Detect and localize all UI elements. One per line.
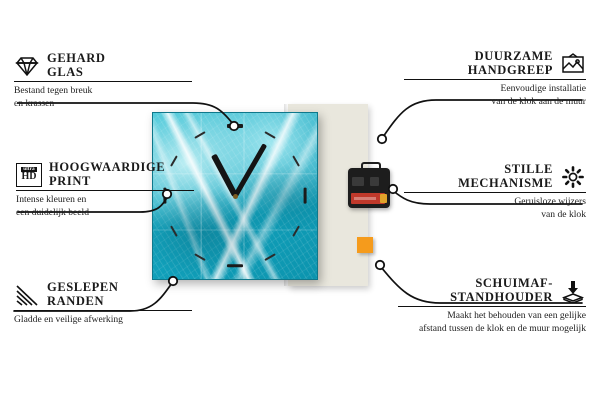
- feature-desc-line2: van de klok aan de muur: [404, 96, 586, 108]
- divider: [14, 81, 192, 82]
- divider: [14, 310, 192, 311]
- feature-desc-line2: van de klok: [404, 209, 586, 221]
- feature-title-line2: GLAS: [47, 66, 105, 80]
- divider: [398, 306, 586, 307]
- divider: [16, 190, 194, 191]
- feature-desc-line2: afstand tussen de klok en de muur mogeli…: [398, 323, 586, 335]
- feature-title-line2: MECHANISME: [458, 177, 553, 191]
- feature-desc-line2: en krassen: [14, 98, 192, 110]
- bevelled-edge-icon: [14, 283, 40, 307]
- feature-schuimaf-standhouder: SCHUIMAF- STANDHOUDER Maakt het behouden…: [398, 277, 586, 335]
- endpoint-duurzame-handgreep: [378, 135, 386, 143]
- endpoint-stille-mechanisme: [389, 185, 397, 193]
- feature-desc-line1: Intense kleuren en: [16, 194, 194, 206]
- feature-desc-line1: Gladde en veilige afwerking: [14, 314, 192, 326]
- ultra-hd-badge-icon: ultra HD: [16, 163, 42, 187]
- endpoint-gehard-glas: [230, 122, 238, 130]
- feature-title-line1: STILLE: [458, 163, 553, 177]
- feature-desc-line1: Eenvoudige installatie: [404, 83, 586, 95]
- feature-title-line1: HOOGWAARDIGE: [49, 161, 165, 175]
- feature-stille-mechanisme: STILLE MECHANISME Geruisloze wijzers van…: [404, 163, 586, 221]
- feature-gehard-glas: GEHARD GLAS Bestand tegen breuk en krass…: [14, 52, 192, 110]
- picture-frame-icon: [560, 52, 586, 76]
- feature-title-line2: HANDGREEP: [468, 64, 553, 78]
- feature-desc-line2: een duidelijk beeld: [16, 207, 194, 219]
- infographic-canvas: GEHARD GLAS Bestand tegen breuk en krass…: [0, 0, 600, 400]
- feature-duurzame-handgreep: DUURZAME HANDGREEP Eenvoudige installati…: [404, 50, 586, 108]
- feature-title-line2: PRINT: [49, 175, 165, 189]
- gear-icon: [560, 165, 586, 189]
- diamond-icon: [14, 54, 40, 78]
- feature-title-line1: SCHUIMAF-: [450, 277, 553, 291]
- clock-center-pin: [233, 194, 238, 199]
- ultra-hd-bottom-text: HD: [22, 172, 37, 182]
- feature-title-line2: RANDEN: [47, 295, 119, 309]
- endpoint-schuimaf-standhouder: [376, 261, 384, 269]
- divider: [404, 192, 586, 193]
- divider: [404, 79, 586, 80]
- feature-title-line1: GEHARD: [47, 52, 105, 66]
- feature-desc-line1: Geruisloze wijzers: [404, 196, 586, 208]
- feature-desc-line1: Bestand tegen breuk: [14, 85, 192, 97]
- feature-title-line1: GESLEPEN: [47, 281, 119, 295]
- foam-spacer-icon: [560, 279, 586, 303]
- feature-title-line1: DUURZAME: [468, 50, 553, 64]
- feature-desc-line1: Maakt het behouden van een gelijke: [398, 310, 586, 322]
- feature-hoogwaardige-print: ultra HD HOOGWAARDIGE PRINT Intense kleu…: [16, 161, 194, 219]
- feature-title-line2: STANDHOUDER: [450, 291, 553, 305]
- feature-geslepen-randen: GESLEPEN RANDEN Gladde en veilige afwerk…: [14, 281, 192, 327]
